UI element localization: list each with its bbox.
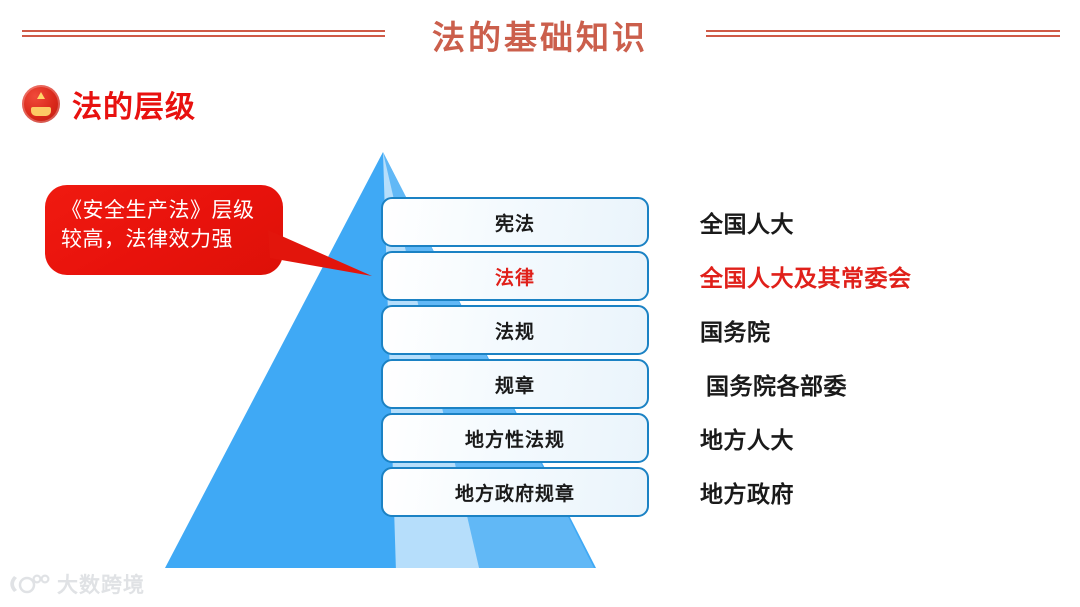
authority-local-government: 地方政府: [700, 467, 1030, 517]
authority-local-peoples-congress: 地方人大: [700, 413, 1030, 463]
layer-box-law[interactable]: 法律: [381, 251, 649, 301]
section-heading: 法的层级: [22, 82, 196, 126]
dashu-kuajing-logo-icon: [10, 573, 50, 595]
authority-npc-standing-committee: 全国人大及其常委会: [700, 251, 1030, 301]
callout-line-1: 《安全生产法》层级: [61, 197, 269, 226]
page-title: 法的基础知识: [390, 11, 690, 59]
authority-state-council: 国务院: [700, 305, 1030, 355]
callout-line-2: 较高，法律效力强: [61, 226, 269, 255]
issuing-authority-list: 全国人大 全国人大及其常委会 国务院 国务院各部委 地方人大 地方政府: [700, 197, 1030, 521]
title-rule-right: [706, 30, 1060, 37]
china-national-emblem-icon: [22, 85, 60, 123]
layer-label: 地方政府规章: [455, 479, 575, 506]
callout-bubble: 《安全生产法》层级 较高，法律效力强: [45, 185, 283, 275]
title-rule-left: [22, 30, 385, 37]
layer-label: 法规: [495, 317, 535, 344]
watermark: 大数跨境: [10, 569, 145, 599]
layer-box-local-government-rules[interactable]: 地方政府规章: [381, 467, 649, 517]
layer-label: 地方性法规: [465, 425, 565, 452]
layer-label: 法律: [495, 263, 535, 290]
authority-npc: 全国人大: [700, 197, 1030, 247]
layer-label: 宪法: [495, 209, 535, 236]
layer-label: 规章: [495, 371, 535, 398]
law-hierarchy-boxes: 宪法 法律 法规 规章 地方性法规 地方政府规章: [381, 197, 649, 521]
layer-box-regulation[interactable]: 法规: [381, 305, 649, 355]
authority-state-council-ministries: 国务院各部委: [700, 359, 1030, 409]
layer-box-local-regulation[interactable]: 地方性法规: [381, 413, 649, 463]
layer-box-constitution[interactable]: 宪法: [381, 197, 649, 247]
section-title: 法的层级: [72, 82, 196, 126]
watermark-text: 大数跨境: [57, 569, 145, 599]
layer-box-rules[interactable]: 规章: [381, 359, 649, 409]
slide-canvas: 法的基础知识 法的层级 《安全生产法》层级 较高，法律效力强 宪法 法律: [0, 0, 1080, 607]
